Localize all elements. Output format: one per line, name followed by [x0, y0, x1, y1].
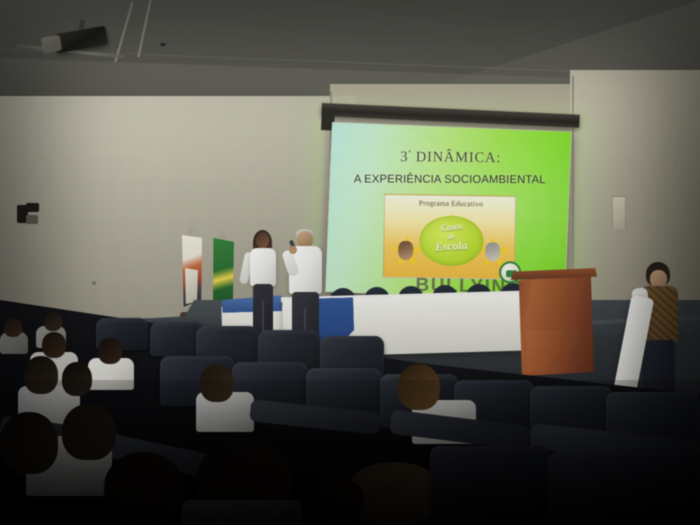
projector-lens-icon [41, 34, 62, 53]
slide-title-line1: 3ª DINÂMICA: [331, 147, 571, 168]
slide-title-rest: DINÂMICA: [411, 149, 501, 166]
slide-logo-panel: Programa Educativo Casos de Escola [383, 194, 516, 280]
logo-caption: Programa Educativo [385, 198, 516, 209]
slide-title-ordinal: 3 [400, 149, 408, 165]
slide-title-line2: A EXPERIÊNCIA SOCIOAMBIENTAL [330, 173, 570, 186]
auditorium-presentation-photo: 3ª DINÂMICA: A EXPERIÊNCIA SOCIOAMBIENTA… [0, 0, 700, 525]
wall-vent [612, 196, 626, 230]
logo-portrait-left [398, 241, 413, 260]
speaker-icon [17, 203, 41, 226]
institutional-flag-fold [185, 268, 198, 304]
shirt [250, 248, 276, 286]
hand [289, 246, 297, 254]
wall-mark [92, 281, 96, 285]
podium-front-panel [527, 330, 582, 372]
audience-head [44, 312, 62, 331]
audience-head [42, 332, 66, 358]
audience-head [98, 338, 122, 364]
audience-head [4, 318, 22, 337]
house-shadow [0, 380, 700, 525]
logo-portrait-right [485, 242, 500, 261]
ceiling-fixture [160, 43, 166, 46]
head [256, 232, 269, 248]
